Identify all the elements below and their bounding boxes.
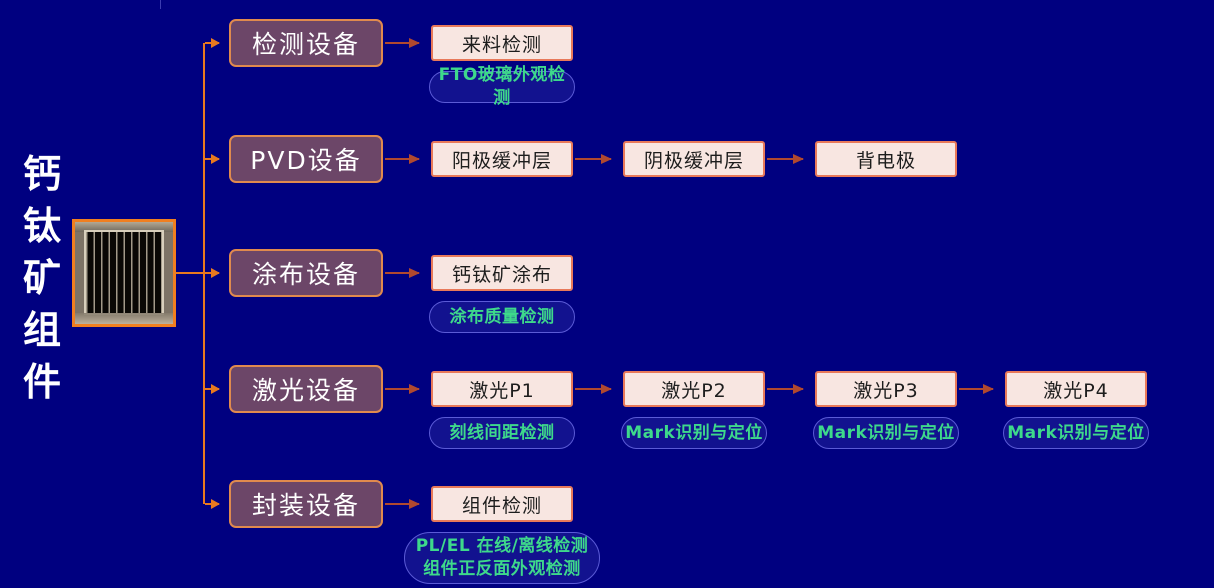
vertical-title-char-3: 组 — [14, 304, 70, 356]
process-label: 激光P3 — [853, 376, 919, 403]
process-label: 阴极缓冲层 — [644, 146, 744, 173]
stage-arrow-1-2 — [767, 158, 803, 160]
process-label: 激光P1 — [469, 376, 535, 403]
inspection-pill-0-0[interactable]: FTO玻璃外观检测 — [429, 71, 575, 103]
inspection-pill-line-0: Mark识别与定位 — [625, 422, 763, 445]
stage-arrow-1-0 — [385, 158, 419, 160]
inspection-pill-3-3[interactable]: Mark识别与定位 — [1003, 417, 1149, 449]
inspection-pill-line-0: FTO玻璃外观检测 — [430, 64, 574, 110]
process-box-0-0[interactable]: 来料检测 — [431, 25, 573, 61]
equipment-label: 检测设备 — [252, 25, 360, 61]
inspection-pill-line-0: 涂布质量检测 — [450, 306, 555, 329]
inspection-pill-4-0[interactable]: PL/EL 在线/离线检测组件正反面外观检测 — [404, 532, 600, 584]
vertical-title-char-2: 矿 — [14, 252, 70, 304]
inspection-pill-3-0[interactable]: 刻线间距检测 — [429, 417, 575, 449]
tree-branch-arrow-0 — [205, 42, 219, 44]
process-label: 激光P4 — [1043, 376, 1109, 403]
stage-arrow-1-1 — [575, 158, 611, 160]
stage-arrow-2-0 — [385, 272, 419, 274]
stage-arrow-3-3 — [959, 388, 993, 390]
process-label: 组件检测 — [462, 491, 542, 518]
tree-branch-arrow-3 — [205, 388, 219, 390]
inspection-pill-line-0: PL/EL 在线/离线检测 — [416, 535, 589, 558]
stage-arrow-4-0 — [385, 503, 419, 505]
process-label: 背电极 — [856, 146, 916, 173]
vertical-title-char-4: 件 — [14, 356, 70, 408]
stage-arrow-3-2 — [767, 388, 803, 390]
process-label: 来料检测 — [462, 30, 542, 57]
stage-arrow-3-1 — [575, 388, 611, 390]
equipment-box-1[interactable]: PVD设备 — [229, 135, 383, 183]
tree-branch-arrow-4 — [205, 503, 219, 505]
tree-branch-arrow-2 — [205, 272, 219, 274]
stage-arrow-0-0 — [385, 42, 419, 44]
equipment-box-3[interactable]: 激光设备 — [229, 365, 383, 413]
inspection-pill-3-1[interactable]: Mark识别与定位 — [621, 417, 767, 449]
equipment-box-0[interactable]: 检测设备 — [229, 19, 383, 67]
photo-cell-area — [84, 230, 164, 315]
photo-to-trunk-connector — [176, 272, 203, 274]
photo-bottom-edge — [75, 313, 173, 324]
tree-branch-arrow-1 — [205, 158, 219, 160]
process-box-3-3[interactable]: 激光P4 — [1005, 371, 1147, 407]
process-box-1-2[interactable]: 背电极 — [815, 141, 957, 177]
vertical-title-char-0: 钙 — [14, 148, 70, 200]
inspection-pill-line-1: 组件正反面外观检测 — [423, 558, 581, 581]
equipment-box-4[interactable]: 封装设备 — [229, 480, 383, 528]
equipment-box-2[interactable]: 涂布设备 — [229, 249, 383, 297]
perovskite-module-photo — [72, 219, 176, 327]
inspection-pill-2-0[interactable]: 涂布质量检测 — [429, 301, 575, 333]
product-vertical-title: 钙钛矿组件 — [14, 148, 70, 408]
process-label: 钙钛矿涂布 — [452, 260, 552, 287]
equipment-label: PVD设备 — [250, 141, 361, 177]
inspection-pill-line-0: Mark识别与定位 — [817, 422, 955, 445]
process-box-2-0[interactable]: 钙钛矿涂布 — [431, 255, 573, 291]
inspection-pill-line-0: Mark识别与定位 — [1007, 422, 1145, 445]
inspection-pill-line-0: 刻线间距检测 — [450, 422, 555, 445]
stage-arrow-3-0 — [385, 388, 419, 390]
flowchart-canvas: 钙钛矿组件 检测设备来料检测FTO玻璃外观检测PVD设备阳极缓冲层阴极缓冲层背电… — [0, 0, 1214, 588]
process-label: 阳极缓冲层 — [452, 146, 552, 173]
equipment-label: 涂布设备 — [252, 255, 360, 291]
inspection-pill-3-2[interactable]: Mark识别与定位 — [813, 417, 959, 449]
equipment-label: 封装设备 — [252, 486, 360, 522]
process-box-1-1[interactable]: 阴极缓冲层 — [623, 141, 765, 177]
process-box-3-2[interactable]: 激光P3 — [815, 371, 957, 407]
process-box-3-1[interactable]: 激光P2 — [623, 371, 765, 407]
process-box-4-0[interactable]: 组件检测 — [431, 486, 573, 522]
equipment-label: 激光设备 — [252, 371, 360, 407]
process-label: 激光P2 — [661, 376, 727, 403]
process-box-3-0[interactable]: 激光P1 — [431, 371, 573, 407]
top-tick-mark — [160, 0, 161, 9]
process-box-1-0[interactable]: 阳极缓冲层 — [431, 141, 573, 177]
vertical-title-char-1: 钛 — [14, 200, 70, 252]
